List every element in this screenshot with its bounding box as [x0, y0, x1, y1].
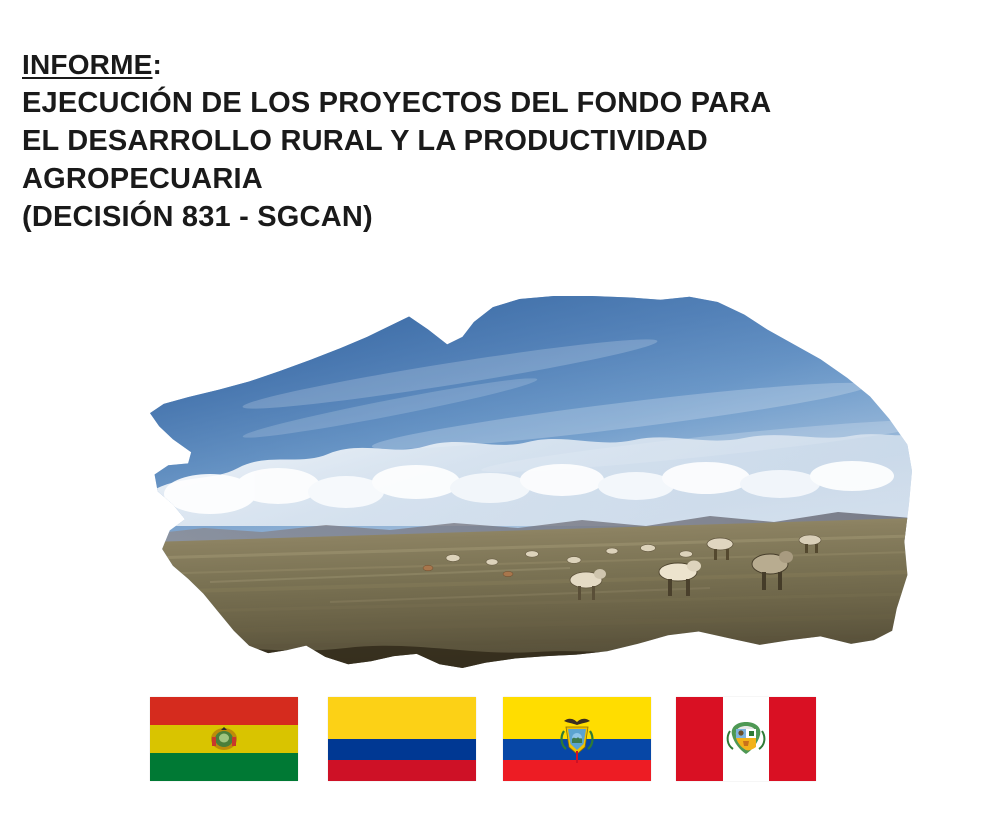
flag-colombia-icon — [328, 697, 476, 781]
member-country-flags — [150, 697, 800, 781]
altiplano-photo — [150, 296, 912, 668]
flag-colombia — [328, 697, 476, 781]
presentation-slide: INFORME: EJECUCIÓN DE LOS PROYECTOS DEL … — [0, 0, 1000, 823]
flag-bolivia-icon — [150, 697, 298, 781]
title-informe-colon: : — [153, 49, 163, 80]
landscape-illustration — [150, 296, 912, 668]
title-informe-underlined: INFORME — [22, 49, 153, 80]
altiplano-photo-image — [150, 296, 912, 668]
title-line-2: EJECUCIÓN DE LOS PROYECTOS DEL FONDO PAR… — [22, 84, 922, 122]
title-line-5: (DECISIÓN 831 - SGCAN) — [22, 198, 922, 236]
title-line-3: EL DESARROLLO RURAL Y LA PRODUCTIVIDAD — [22, 122, 922, 160]
flag-ecuador-icon — [503, 697, 651, 781]
flag-bolivia — [150, 697, 298, 781]
flag-ecuador — [503, 697, 651, 781]
title-line-4: AGROPECUARIA — [22, 160, 922, 198]
flag-peru-icon — [676, 697, 816, 781]
page-title: INFORME: EJECUCIÓN DE LOS PROYECTOS DEL … — [22, 46, 922, 236]
flag-peru — [676, 697, 816, 781]
title-line-informe: INFORME: — [22, 46, 922, 84]
